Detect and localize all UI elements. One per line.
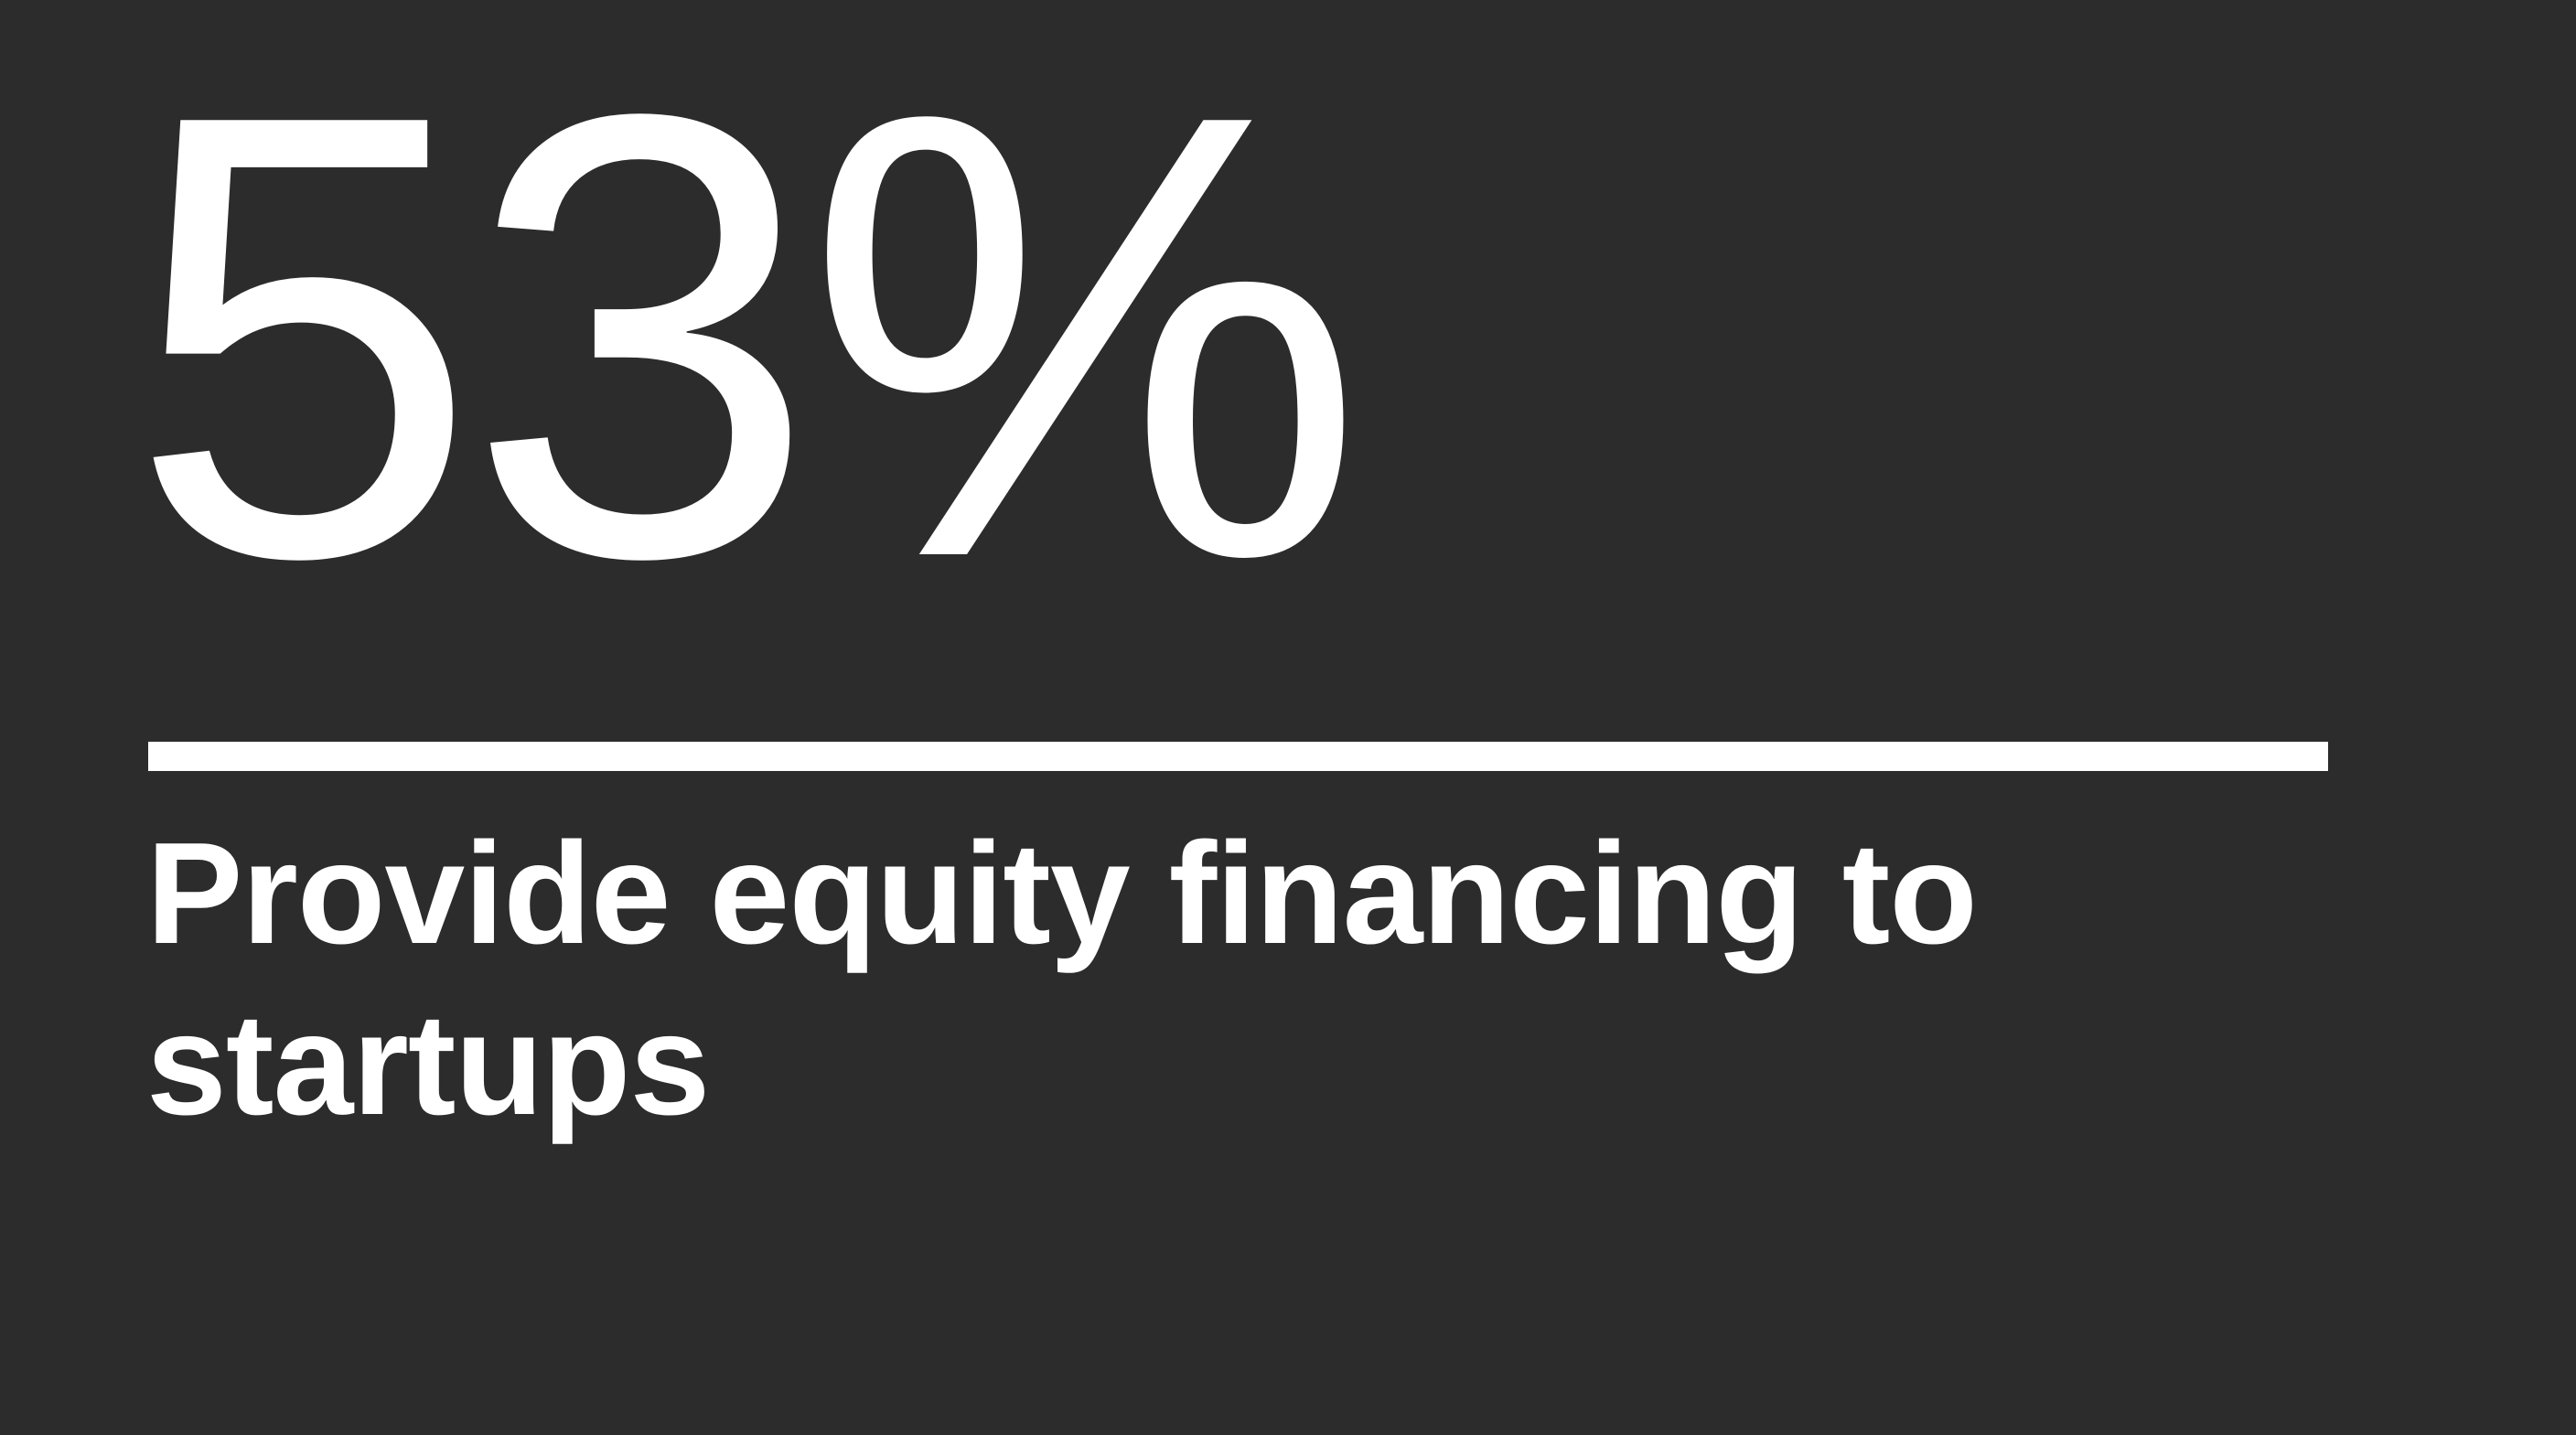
statistic-card: 53% Provide equity financing to startups [0, 0, 2576, 1435]
statistic-caption: Provide equity financing to startups [146, 809, 2049, 1151]
statistic-value: 53% [128, 16, 2415, 657]
divider-rule [148, 742, 2328, 771]
